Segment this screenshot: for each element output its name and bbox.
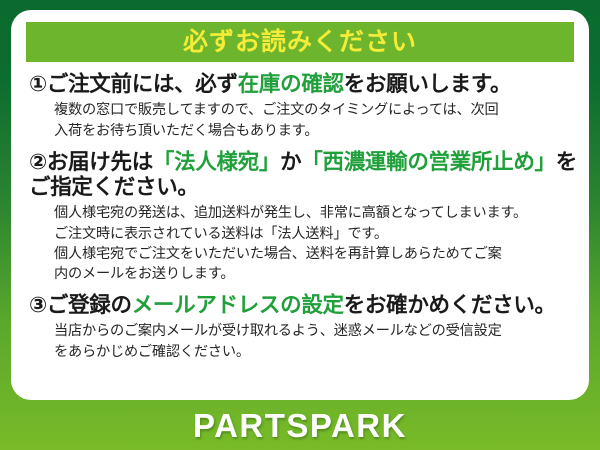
notice-item-2-heading: ②お届け先は「法人様宛」か「西濃運輸の営業所止め」をご指定ください。 xyxy=(29,150,581,201)
notice-item-2-note-line-4: 内のメールをお送りします。 xyxy=(54,264,581,284)
notice-item-2: ②お届け先は「法人様宛」か「西濃運輸の営業所止め」をご指定ください。 個人様宅宛… xyxy=(29,150,581,284)
notice-item-3-note-line-1: 当店からのご案内メールが受け取れるよう、迷惑メールなどの受信設定 xyxy=(54,321,581,341)
notice-body: ①ご注文前には、必ず在庫の確認をお願いします。 複数の窓口で販売してますので、ご… xyxy=(29,72,581,371)
notice-item-1: ①ご注文前には、必ず在庫の確認をお願いします。 複数の窓口で販売してますので、ご… xyxy=(29,72,581,141)
notice-item-3-note-line-2: をあらかじめご確認ください。 xyxy=(54,342,581,362)
notice-title: 必ずお読みください xyxy=(183,30,417,55)
notice-panel: 必ずお読みください ①ご注文前には、必ず在庫の確認をお願いします。 複数の窓口で… xyxy=(11,10,589,400)
notice-item-1-heading-part-1: ご注文前には、必ず xyxy=(47,72,238,96)
notice-item-2-note-line-1: 個人様宅宛の発送は、追加送料が発生し、非常に高額となってしまいます。 xyxy=(54,203,581,223)
notice-item-1-note-line-1: 複数の窓口で販売してますので、ご注文のタイミングによっては、次回 xyxy=(54,100,581,120)
notice-item-3-note: 当店からのご案内メールが受け取れるよう、迷惑メールなどの受信設定 をあらかじめご… xyxy=(29,321,581,361)
notice-item-3-heading-accent: メールアドレスの設定 xyxy=(132,293,344,317)
notice-item-2-heading-accent-1: 「法人様宛」 xyxy=(153,150,280,174)
brand-wordmark: PARTSPARK xyxy=(193,409,407,442)
notice-footer: PARTSPARK xyxy=(0,400,600,450)
notice-item-3-heading-part-1: ご登録の xyxy=(47,293,132,317)
notice-header-band: 必ずお読みください xyxy=(26,22,574,62)
notice-item-1-heading: ①ご注文前には、必ず在庫の確認をお願いします。 xyxy=(29,72,581,97)
notice-item-2-note-line-2: ご注文時に表示されている送料は「法人送料」です。 xyxy=(54,224,581,244)
notice-item-2-note-line-3: 個人様宅宛でご注文をいただいた場合、送料を再計算しあらためてご案 xyxy=(54,244,581,264)
notice-item-2-heading-part-3: か xyxy=(280,150,301,174)
notice-item-2-heading-accent-2: 「西濃運輸の営業所止め」 xyxy=(301,150,555,174)
notice-item-1-note: 複数の窓口で販売してますので、ご注文のタイミングによっては、次回 入荷をお待ち頂… xyxy=(29,100,581,140)
notice-item-1-heading-part-3: をお願いします。 xyxy=(344,72,511,96)
notice-item-3-marker: ③ xyxy=(29,293,47,317)
notice-item-1-heading-accent: 在庫の確認 xyxy=(238,72,344,96)
notice-item-1-note-line-2: 入荷をお待ち頂いただく場合もあります。 xyxy=(54,121,581,141)
notice-item-2-marker: ② xyxy=(29,150,47,174)
notice-card: 必ずお読みください ①ご注文前には、必ず在庫の確認をお願いします。 複数の窓口で… xyxy=(0,0,600,450)
notice-item-3: ③ご登録のメールアドレスの設定をお確かめください。 当店からのご案内メールが受け… xyxy=(29,293,581,362)
notice-item-2-note: 個人様宅宛の発送は、追加送料が発生し、非常に高額となってしまいます。 ご注文時に… xyxy=(29,203,581,284)
notice-item-1-marker: ① xyxy=(29,72,47,96)
notice-item-3-heading: ③ご登録のメールアドレスの設定をお確かめください。 xyxy=(29,293,581,318)
notice-item-3-heading-part-3: をお確かめください。 xyxy=(344,293,556,317)
notice-item-2-heading-part-1: お届け先は xyxy=(47,150,153,174)
